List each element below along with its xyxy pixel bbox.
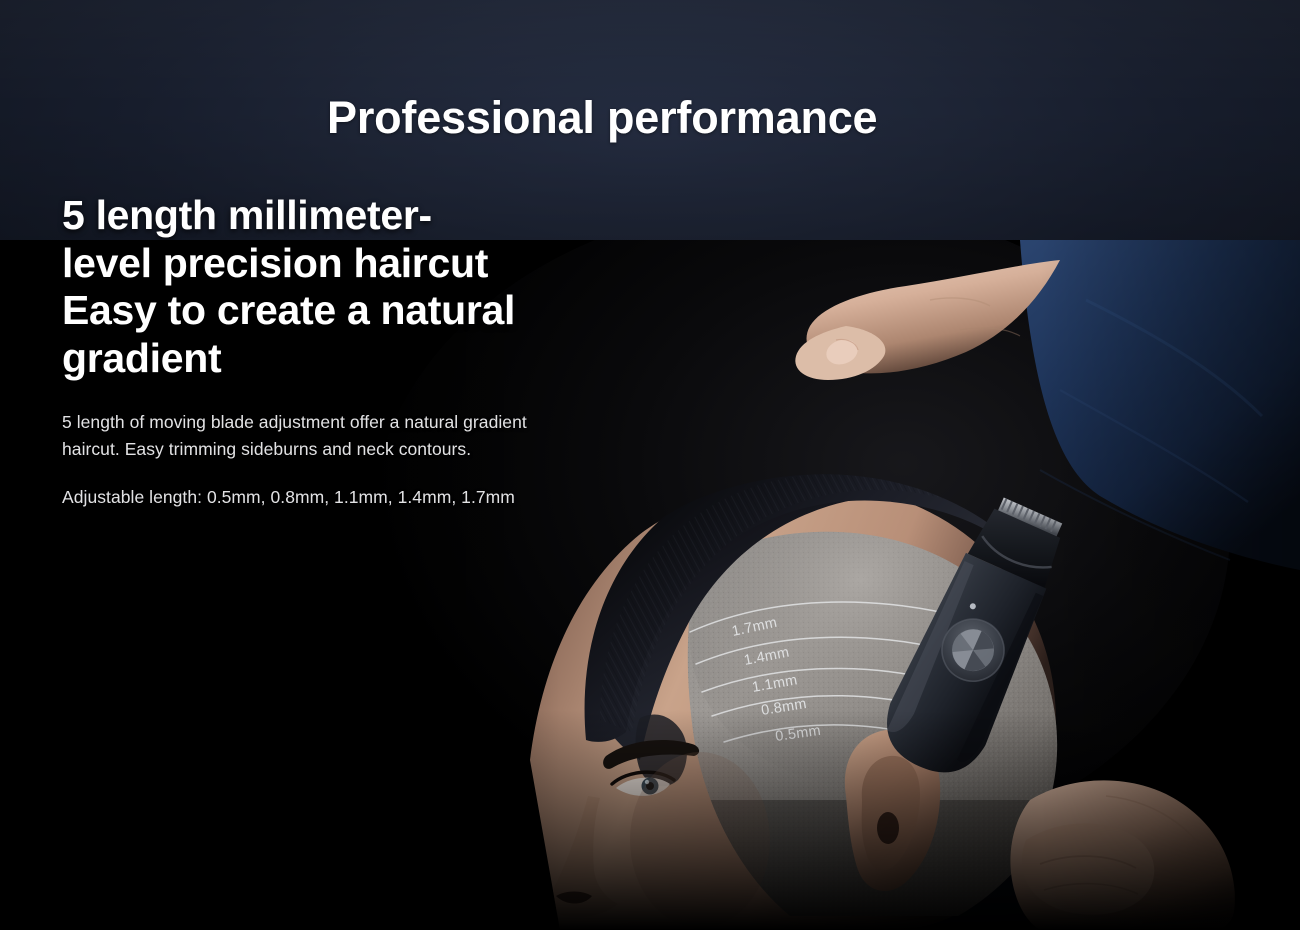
product-feature-page: Professional performance (0, 0, 1300, 930)
headline-line-3: Easy to create a natural (62, 287, 515, 333)
adjustable-length-spec: Adjustable length: 0.5mm, 0.8mm, 1.1mm, … (62, 484, 532, 511)
headline-line-1: 5 length millimeter- (62, 192, 432, 238)
headline-line-2: level precision haircut (62, 240, 488, 286)
feature-description: 5 length of moving blade adjustment offe… (62, 409, 532, 462)
headline-line-4: gradient (62, 335, 221, 381)
page-title: Professional performance (327, 92, 877, 144)
feature-text-column: 5 length millimeter- level precision hai… (62, 192, 572, 511)
feature-headline: 5 length millimeter- level precision hai… (62, 192, 572, 382)
right-vignette (1040, 240, 1300, 930)
